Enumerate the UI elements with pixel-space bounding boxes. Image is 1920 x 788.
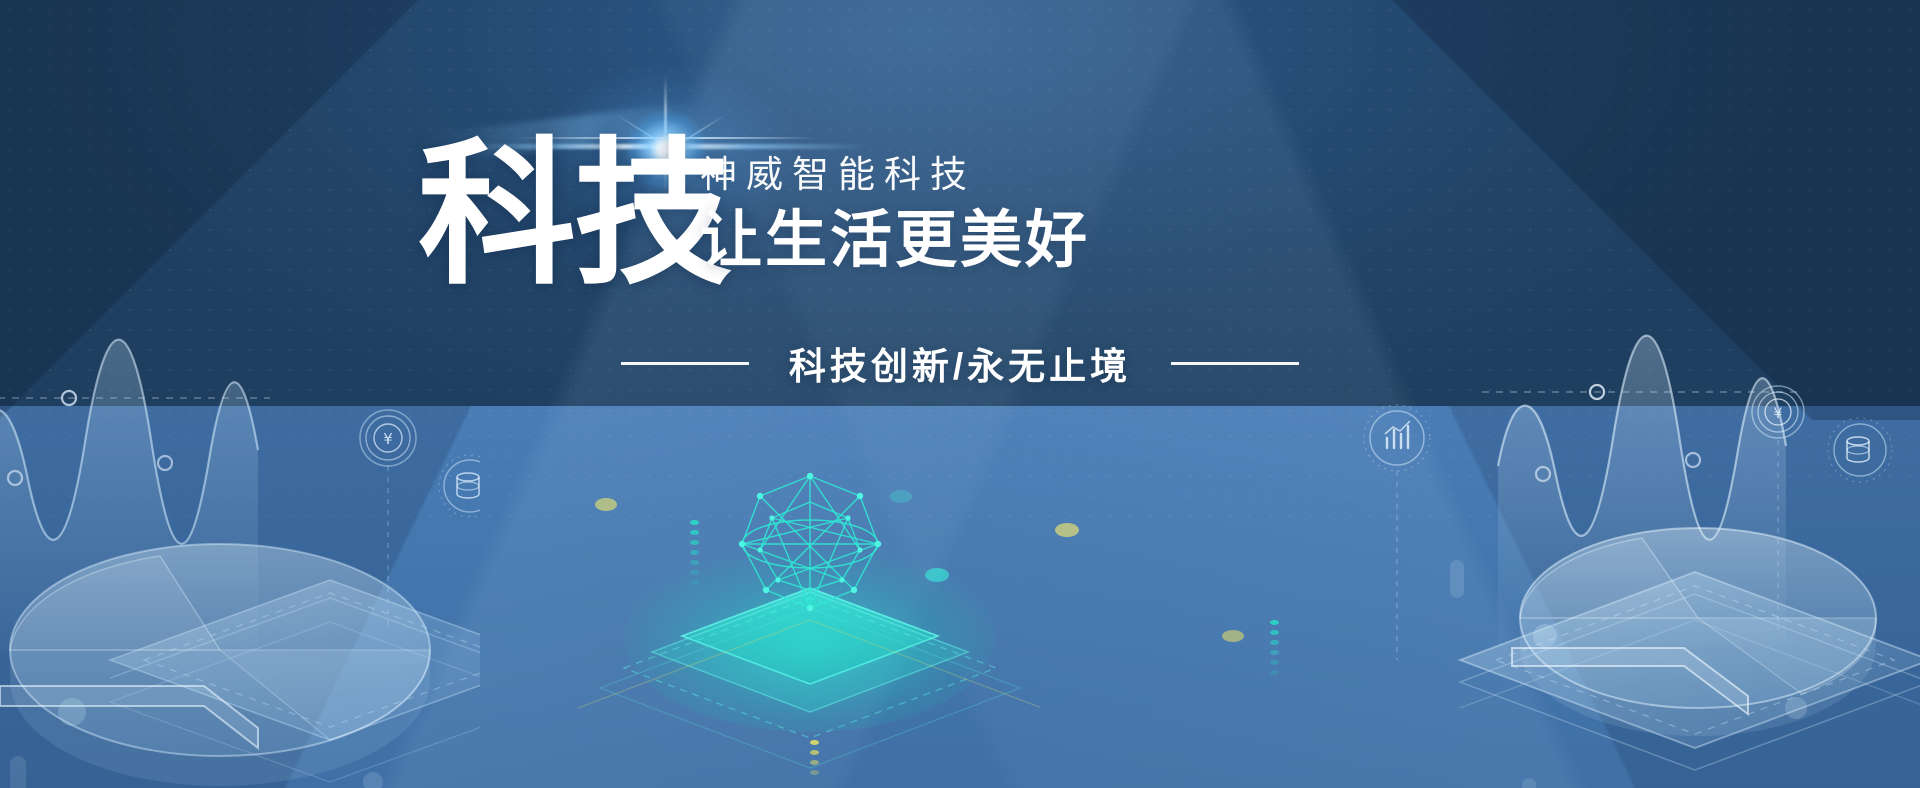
- hero-banner: ¥: [0, 0, 1920, 788]
- brand-title: 科技: [418, 140, 730, 290]
- divider-line-left: [621, 362, 749, 365]
- tagline-row: 科技创新/永无止境: [0, 336, 1920, 390]
- tagline-text: 科技创新/永无止境: [789, 336, 1131, 390]
- headline: 让生活更美好: [700, 206, 1090, 276]
- divider-line-right: [1171, 362, 1299, 365]
- hero-text-block: 科技 神威智能科技 让生活更美好 科技创新/永无止境: [0, 0, 1920, 788]
- subtitle-block: 神威智能科技 让生活更美好: [700, 152, 1090, 276]
- company-name: 神威智能科技: [700, 152, 1090, 198]
